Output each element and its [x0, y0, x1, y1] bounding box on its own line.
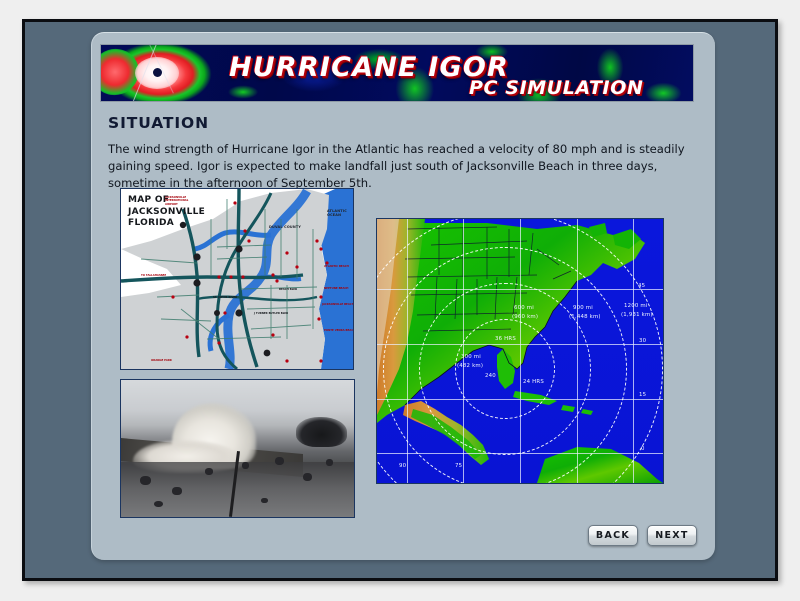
lon-label-90: 90	[399, 463, 406, 469]
ring-label-24hrs: 24 HRS	[523, 379, 544, 385]
ring-label-600km: (960 km)	[512, 314, 538, 320]
map-label-neptune-beach: NEPTUNE BEACH	[324, 287, 348, 290]
lat-label-45: 45	[638, 283, 645, 289]
lat-label-0: 0	[641, 446, 645, 452]
map-label-atlantic-ocean: ATLANTIC OCEAN	[327, 209, 349, 217]
surge-photo-content	[121, 380, 354, 517]
banner-subtitle: PC SIMULATION	[469, 77, 643, 99]
ring-label-600mi: 600 mi	[514, 305, 534, 311]
map-label-beach-blvd: BEACH BLVD	[279, 288, 297, 291]
map-label-tallahassee: TO TALLAHASSEE	[141, 274, 166, 277]
map-label-airport: JACKSONVILLE INTERNATIONAL AIRPORT	[165, 196, 201, 206]
ring-label-240: 240	[485, 373, 496, 379]
next-button[interactable]: NEXT	[647, 525, 697, 546]
slide-content-panel: HURRICANE IGOR PC SIMULATION SITUATION T…	[91, 32, 715, 560]
ring-label-300mi: 300 mi	[461, 354, 481, 360]
situation-body-text: The wind strength of Hurricane Igor in t…	[108, 141, 697, 193]
banner-title: HURRICANE IGOR	[229, 52, 509, 83]
navigation-button-bar: BACK NEXT	[588, 525, 697, 546]
ring-label-1200mi: 1200 mi	[624, 303, 648, 309]
map-label-orange-park: ORANGE PARK	[151, 359, 172, 362]
back-button[interactable]: BACK	[588, 525, 638, 546]
lat-label-15: 15	[639, 392, 646, 398]
map-label-butler-blvd: J TURNER BUTLER BLVD	[254, 312, 288, 315]
ring-label-300km: (482 km)	[457, 363, 483, 369]
map-label-st-johns-river: ST. JOHNS RIVER	[213, 296, 237, 299]
ring-label-900mi: 900 mi	[573, 305, 593, 311]
ring-label-1200km: (1,931 km)	[621, 312, 653, 318]
application-window: HURRICANE IGOR PC SIMULATION SITUATION T…	[22, 19, 778, 581]
shoreline-trees	[296, 417, 347, 447]
map-label-ponte-vedra: PONTE VEDRA BEACH	[324, 329, 354, 332]
ring-label-36hrs: 36 HRS	[495, 336, 516, 342]
ring-label-900km: (1,448 km)	[569, 314, 601, 320]
track-map-content: 600 mi (960 km) 900 mi (1,448 km) 1200 m…	[377, 219, 663, 483]
hurricane-track-map: 600 mi (960 km) 900 mi (1,448 km) 1200 m…	[376, 218, 664, 484]
title-banner: HURRICANE IGOR PC SIMULATION	[100, 44, 694, 102]
hurricane-satellite-icon	[100, 44, 219, 102]
map-label-atlantic-beach: ATLANTIC BEACH	[324, 265, 349, 268]
map-label-duval-county: DUVAL COUNTY	[269, 225, 301, 229]
map-label-jacksonville-beach: JACKSONVILLE BEACH	[322, 303, 354, 306]
storm-surge-photo	[120, 379, 355, 518]
page-title: SITUATION	[108, 114, 209, 132]
lon-label-75: 75	[455, 463, 462, 469]
jacksonville-map-image: MAP OF JACKSONVILLE FLORIDA DUVAL COUNTY…	[120, 188, 354, 370]
lat-label-30: 30	[639, 338, 646, 344]
